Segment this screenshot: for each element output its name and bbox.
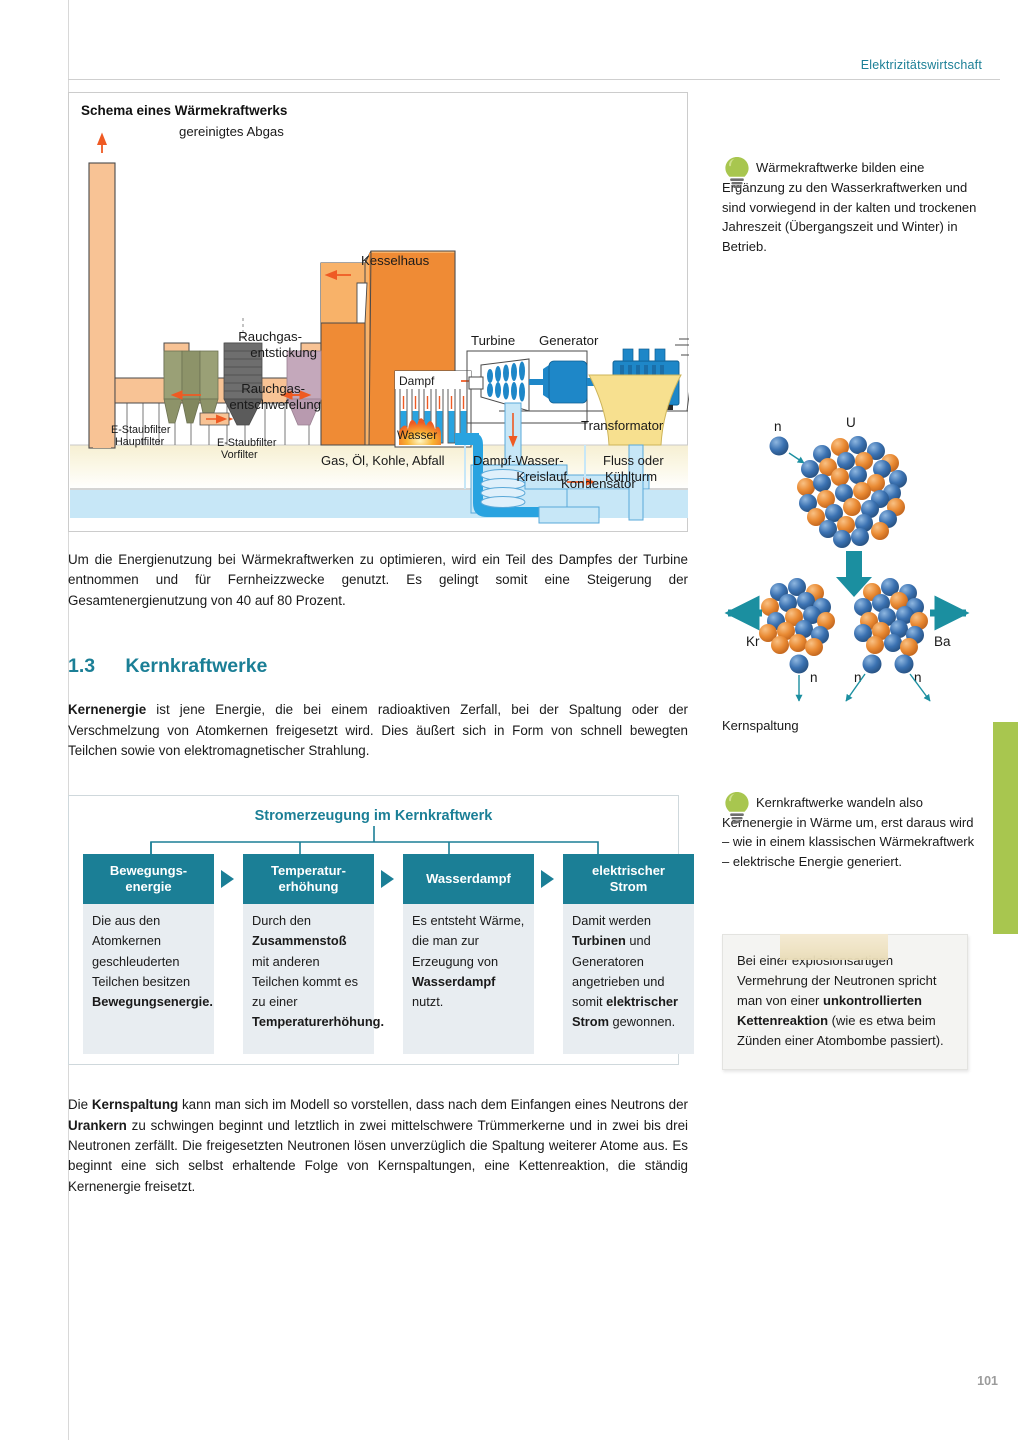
flow-step-3-header-line1: Wasserdampf (426, 871, 511, 887)
margin-note-1-body: Wärmekraftwerke bilden eine Ergänzung zu… (722, 160, 976, 254)
barium-nucleus (854, 578, 928, 656)
label-denox-1: Rauchgas- (238, 329, 302, 344)
page-title: 1.3 Kernkraftwerke (68, 655, 688, 678)
lightbulb-icon (722, 156, 752, 190)
label-boiler-house: Kesselhaus (361, 253, 430, 268)
tape-icon (780, 934, 888, 960)
flow-step-4-header-line1: elektrischer (592, 863, 665, 878)
margin-note-1-text: Wärmekraftwerke bilden eine Ergänzung zu… (722, 158, 980, 257)
label-clean-exhaust: gereinigtes Abgas (179, 124, 284, 139)
flow-step-wasserdampf: Wasserdampf Es entsteht Wärme, die man z… (403, 854, 534, 1054)
label-prefilter-2: Vorfilter (221, 449, 258, 461)
main-column: Schema eines Wärmekraftwerks (68, 92, 688, 1197)
label-turbine: Turbine (471, 333, 515, 348)
label-generator: Generator (539, 333, 599, 348)
term-urankern: Urankern (68, 1118, 127, 1133)
label-steam: Dampf (399, 374, 435, 388)
label-river-1: Fluss oder (603, 453, 664, 468)
figure-kernspaltung: n U (722, 409, 980, 739)
flow-arrow-2 (374, 854, 403, 1054)
figure-kernspaltung-caption: Kernspaltung (722, 718, 980, 733)
triangle-right-icon (541, 870, 554, 888)
flow-arrow-3 (534, 854, 563, 1054)
label-mainfilter-1: E-Staubfilter (111, 424, 171, 436)
flow-step-3-body: Es entsteht Wärme, die man zur Erzeugung… (403, 904, 534, 1054)
fission-canvas: n U (722, 409, 980, 709)
label-cycle-1: Dampf-Wasser- (473, 453, 564, 468)
label-neutron-in: n (774, 419, 782, 434)
triangle-right-icon (221, 870, 234, 888)
p3-mid: kann man sich im Modell so vorstellen, d… (178, 1097, 688, 1112)
flow-step-2-body: Durch den Zusammenstoß mit anderen Teilc… (243, 904, 374, 1054)
flow-step-1-body: Die aus den Atomkernen geschleuderten Te… (83, 904, 214, 1054)
section-number: 1.3 (68, 655, 120, 678)
label-transformer: Transformator (581, 418, 664, 433)
flow-columns: Bewegungs- energie Die aus den Atomkerne… (83, 854, 694, 1054)
label-neutron-3: n (914, 670, 922, 685)
label-fuel: Gas, Öl, Kohle, Abfall (321, 453, 445, 468)
margin-note-2-text: Kernkraftwerke wandeln also Kernenergie … (722, 793, 980, 872)
p3-post: zu schwingen beginnt und letztlich in zw… (68, 1118, 688, 1194)
uranium-nucleus (797, 436, 907, 548)
flow-step-bewegungsenergie: Bewegungs- energie Die aus den Atomkerne… (83, 854, 214, 1054)
label-uranium: U (846, 415, 856, 430)
flow-step-1-header-line2: energie (125, 879, 171, 894)
flow-step-1-header: Bewegungs- energie (83, 854, 214, 904)
label-prefilter-1: E-Staubfilter (217, 437, 277, 449)
chapter-index-tab (993, 722, 1018, 934)
section-title: Kernkraftwerke (125, 655, 267, 677)
flow-step-4-header: elektrischer Strom (563, 854, 694, 904)
margin-note-waermekraftwerke: Wärmekraftwerke bilden eine Ergänzung zu… (722, 158, 980, 257)
paragraph-kernspaltung: Die Kernspaltung kann man sich im Modell… (68, 1095, 688, 1197)
margin-column: Wärmekraftwerke bilden eine Ergänzung zu… (722, 0, 980, 1070)
flow-step-elektrischer-strom: elektrischer Strom Damit werden Turbinen… (563, 854, 694, 1054)
textbook-page: Elektrizitätswirtschaft Schema eines Wär… (0, 0, 1018, 1440)
margin-note-2-body: Kernkraftwerke wandeln also Kernenergie … (722, 795, 974, 869)
flow-step-3-header: Wasserdampf (403, 854, 534, 904)
lightbulb-icon (722, 791, 752, 825)
flow-step-2-header-line2: erhöhung (279, 879, 339, 894)
label-neutron-1: n (810, 670, 818, 685)
label-mainfilter-2: Hauptfilter (115, 436, 165, 448)
flow-step-temperaturerhoehung: Temperatur- erhöhung Durch den Zusammens… (243, 854, 374, 1054)
sticky-note-kettenreaktion: Bei einer explosionsartigen Vermehrung d… (722, 934, 968, 1071)
label-desulph-1: Rauchgas- (241, 381, 305, 396)
figure-thermal-power-plant: Schema eines Wärmekraftwerks (68, 92, 688, 532)
page-number: 101 (977, 1374, 998, 1388)
figure-canvas: gereinigtes Abgas Kesselhaus Rauchgas- e… (69, 93, 689, 533)
flow-step-2-header-line1: Temperatur- (271, 863, 346, 878)
label-water: Wasser (397, 428, 437, 442)
label-river-2: Kühlturm (605, 469, 657, 484)
label-denox-2: entstickung (250, 345, 317, 360)
paragraph-optimization: Um die Energienutzung bei Wärmekraftwerk… (68, 550, 688, 611)
p3-pre: Die (68, 1097, 92, 1112)
flow-step-1-header-line1: Bewegungs- (110, 863, 187, 878)
triangle-right-icon (381, 870, 394, 888)
paragraph-kernenergie-rest: ist jene Energie, die bei einem radioakt… (68, 702, 688, 758)
term-kernenergie: Kernenergie (68, 702, 146, 717)
label-cycle-2: Kreislauf (516, 469, 567, 484)
krypton-nucleus (759, 578, 835, 656)
flow-step-4-header-line2: Strom (610, 879, 648, 894)
paragraph-kernenergie: Kernenergie ist jene Energie, die bei ei… (68, 700, 688, 761)
flow-step-2-header: Temperatur- erhöhung (243, 854, 374, 904)
margin-note-kernkraftwerke: Kernkraftwerke wandeln also Kernenergie … (722, 793, 980, 872)
label-desulph-2: entschwefelung (229, 397, 321, 412)
label-krypton: Kr (746, 634, 760, 649)
label-barium: Ba (934, 634, 951, 649)
flow-step-4-body: Damit werden Turbinen und Generatoren an… (563, 904, 694, 1054)
label-neutron-2: n (854, 670, 862, 685)
figure-flow-stromerzeugung: Stromerzeugung im Kernkraftwerk Bewegung… (68, 795, 679, 1065)
term-kernspaltung: Kernspaltung (92, 1097, 178, 1112)
flow-arrow-1 (214, 854, 243, 1054)
